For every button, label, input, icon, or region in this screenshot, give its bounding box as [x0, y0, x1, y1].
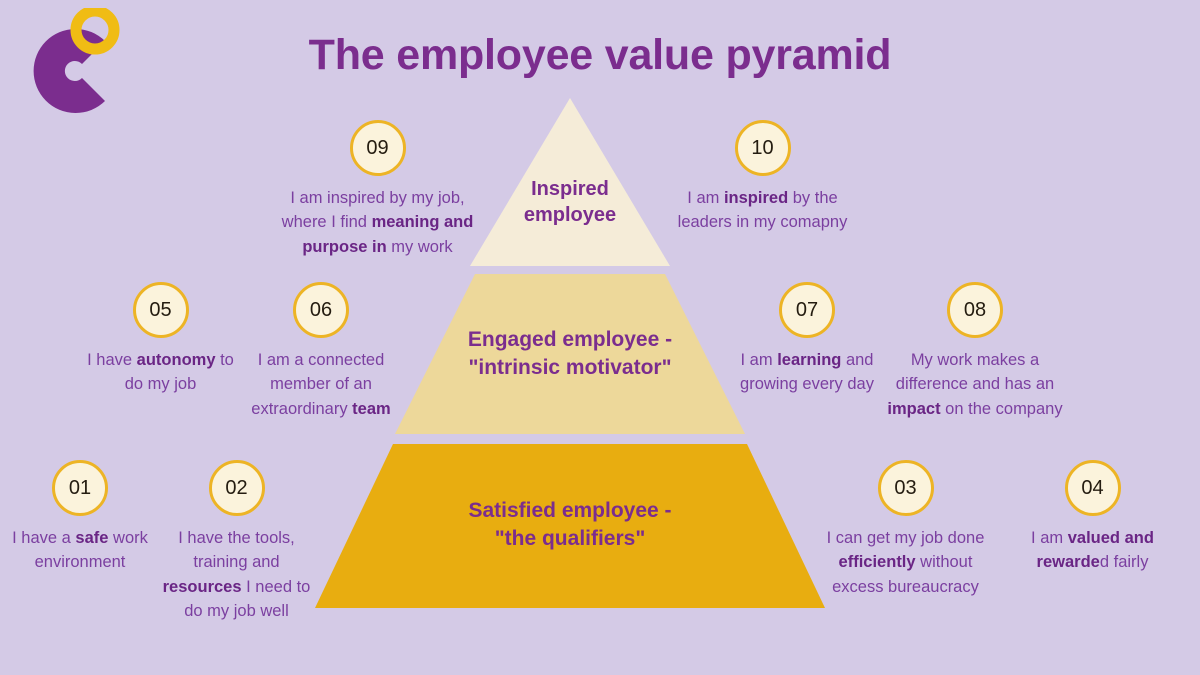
- plain-text: My work makes a difference and has an: [896, 351, 1054, 393]
- badge-number-08: 08: [947, 282, 1003, 338]
- item-text-06: I am a connected member of an extraordin…: [240, 348, 402, 421]
- pyramid-tier-satisfied[interactable]: Satisfied employee - "the qualifiers": [315, 444, 825, 608]
- plain-text: my work: [387, 238, 453, 256]
- plain-text: d fairly: [1100, 553, 1149, 571]
- value-item-09[interactable]: 09 I am inspired by my job, where I find…: [275, 120, 480, 259]
- plain-text: I am: [1031, 529, 1068, 547]
- value-item-03[interactable]: 03 I can get my job done efficiently wit…: [823, 460, 988, 599]
- tier-top-shape: [470, 98, 670, 266]
- value-item-01[interactable]: 01 I have a safe work environment: [0, 460, 160, 575]
- slide-canvas: The employee value pyramid Inspired empl…: [0, 0, 1200, 675]
- value-item-02[interactable]: 02 I have the tools, training and resour…: [158, 460, 315, 623]
- badge-number-02: 02: [209, 460, 265, 516]
- item-text-08: My work makes a difference and has an im…: [880, 348, 1070, 421]
- plain-text: I can get my job done: [827, 529, 985, 547]
- badge-number-04: 04: [1065, 460, 1121, 516]
- value-item-04[interactable]: 04 I am valued and rewarded fairly: [1000, 460, 1185, 575]
- item-text-04: I am valued and rewarded fairly: [1000, 526, 1185, 575]
- plain-text: I have: [87, 351, 137, 369]
- emphasis-text: learning: [777, 351, 841, 369]
- value-item-05[interactable]: 05 I have autonomy to do my job: [83, 282, 238, 397]
- item-text-03: I can get my job done efficiently withou…: [823, 526, 988, 599]
- tier-bottom-shape: [315, 444, 825, 608]
- badge-number-01: 01: [52, 460, 108, 516]
- item-text-09: I am inspired by my job, where I find me…: [275, 186, 480, 259]
- emphasis-text: resources: [163, 578, 242, 596]
- plain-text: on the company: [941, 400, 1063, 418]
- value-item-07[interactable]: 07 I am learning and growing every day: [728, 282, 886, 397]
- plain-text: I am: [741, 351, 778, 369]
- emphasis-text: safe: [75, 529, 108, 547]
- item-text-02: I have the tools, training and resources…: [158, 526, 315, 623]
- page-title: The employee value pyramid: [0, 32, 1200, 79]
- value-item-10[interactable]: 10 I am inspired by the leaders in my co…: [665, 120, 860, 235]
- badge-number-09: 09: [350, 120, 406, 176]
- emphasis-text: efficiently: [839, 553, 916, 571]
- value-item-06[interactable]: 06 I am a connected member of an extraor…: [240, 282, 402, 421]
- badge-number-05: 05: [133, 282, 189, 338]
- plain-text: I am: [687, 189, 724, 207]
- emphasis-text: impact: [887, 400, 940, 418]
- plain-text: I have the tools, training and: [178, 529, 295, 571]
- plain-text: I have a: [12, 529, 75, 547]
- item-text-01: I have a safe work environment: [0, 526, 160, 575]
- badge-number-03: 03: [878, 460, 934, 516]
- tier-middle-shape: [395, 274, 745, 434]
- badge-number-07: 07: [779, 282, 835, 338]
- badge-number-06: 06: [293, 282, 349, 338]
- emphasis-text: inspired: [724, 189, 788, 207]
- emphasis-text: autonomy: [137, 351, 216, 369]
- emphasis-text: team: [352, 400, 391, 418]
- pyramid-tier-engaged[interactable]: Engaged employee - "intrinsic motivator": [395, 274, 745, 434]
- item-text-10: I am inspired by the leaders in my comap…: [665, 186, 860, 235]
- value-item-08[interactable]: 08 My work makes a difference and has an…: [880, 282, 1070, 421]
- pyramid-tier-inspired[interactable]: Inspired employee: [470, 98, 670, 266]
- badge-number-10: 10: [735, 120, 791, 176]
- item-text-07: I am learning and growing every day: [728, 348, 886, 397]
- item-text-05: I have autonomy to do my job: [83, 348, 238, 397]
